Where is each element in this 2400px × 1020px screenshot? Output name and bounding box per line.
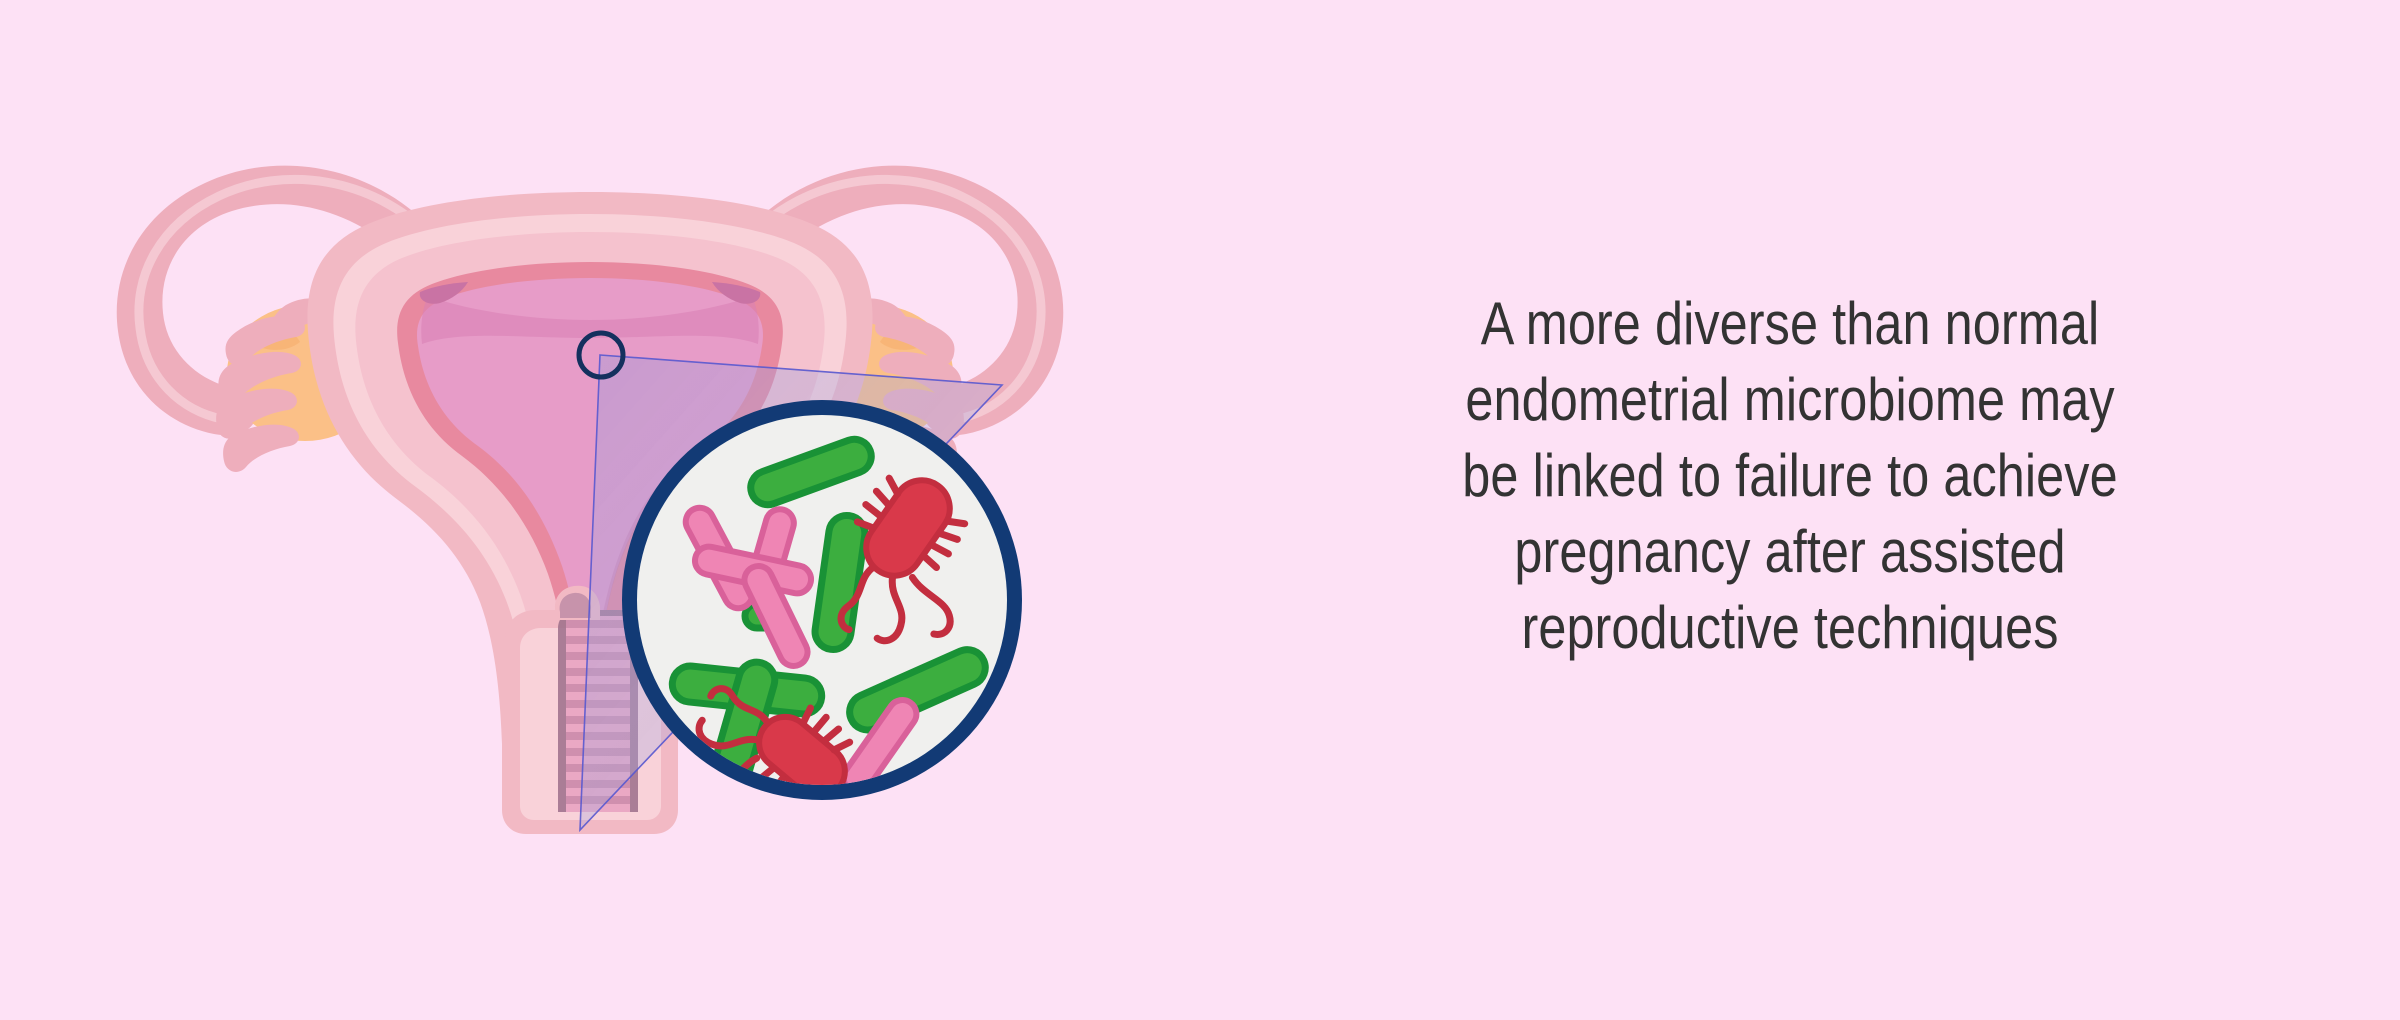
- caption-block: A more diverse than normal endometrial m…: [1255, 286, 2325, 665]
- reproductive-system-illustration: [0, 0, 1180, 1020]
- magnifier-lens[interactable]: [622, 400, 1022, 854]
- caption-text: A more diverse than normal endometrial m…: [1341, 286, 2240, 665]
- infographic-root: A more diverse than normal endometrial m…: [0, 0, 2400, 1020]
